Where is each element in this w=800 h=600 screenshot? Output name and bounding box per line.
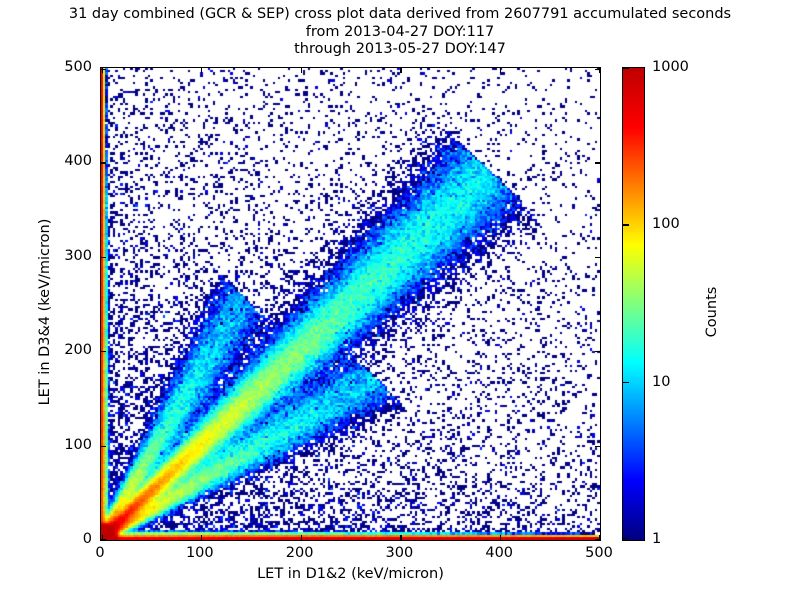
figure-root: 31 day combined (GCR & SEP) cross plot d… bbox=[0, 0, 800, 600]
x-tick bbox=[400, 535, 401, 540]
x-tick-label: 200 bbox=[286, 545, 314, 561]
title-line-2: from 2013-04-27 DOY:117 bbox=[0, 24, 800, 42]
colorbar-title: Counts bbox=[704, 212, 720, 412]
x-tick bbox=[301, 535, 302, 540]
title-line-3: through 2013-05-27 DOY:147 bbox=[0, 41, 800, 59]
y-tick-right bbox=[595, 257, 600, 258]
x-tick-top bbox=[500, 68, 501, 73]
colorbar-tick bbox=[623, 382, 629, 383]
x-tick-top bbox=[201, 68, 202, 73]
colorbar bbox=[622, 67, 645, 541]
y-tick-right bbox=[595, 162, 600, 163]
plot-axes bbox=[100, 67, 601, 541]
y-tick-right bbox=[595, 539, 600, 540]
x-tick-label: 300 bbox=[386, 545, 414, 561]
y-tick bbox=[101, 539, 106, 540]
y-tick-right bbox=[595, 69, 600, 70]
y-tick-label: 500 bbox=[40, 59, 92, 75]
colorbar-tick-label: 1000 bbox=[652, 59, 689, 75]
colorbar-tick-label: 100 bbox=[652, 216, 680, 232]
x-tick-label: 100 bbox=[186, 545, 214, 561]
x-tick bbox=[500, 535, 501, 540]
colorbar-tick bbox=[623, 224, 629, 225]
y-tick bbox=[101, 162, 106, 163]
y-axis-title: LET in D3&4 (keV/micron) bbox=[37, 162, 53, 462]
figure-title: 31 day combined (GCR & SEP) cross plot d… bbox=[0, 6, 800, 59]
y-tick bbox=[101, 257, 106, 258]
colorbar-tick-label: 1 bbox=[652, 531, 661, 547]
colorbar-gradient bbox=[623, 68, 644, 540]
y-tick bbox=[101, 351, 106, 352]
y-tick-label: 0 bbox=[40, 531, 92, 547]
x-axis-title: LET in D1&2 (keV/micron) bbox=[100, 566, 601, 582]
x-tick-label: 0 bbox=[95, 545, 104, 561]
x-tick-label: 400 bbox=[485, 545, 513, 561]
y-tick-right bbox=[595, 446, 600, 447]
histogram-canvas bbox=[101, 68, 600, 540]
x-tick bbox=[201, 535, 202, 540]
colorbar-tick bbox=[623, 538, 629, 539]
colorbar-tick-label: 10 bbox=[652, 374, 670, 390]
y-tick bbox=[101, 69, 106, 70]
y-tick bbox=[101, 446, 106, 447]
y-tick-right bbox=[595, 351, 600, 352]
x-tick-label: 500 bbox=[585, 545, 613, 561]
colorbar-tick bbox=[623, 68, 629, 69]
x-tick-top bbox=[400, 68, 401, 73]
x-tick-top bbox=[301, 68, 302, 73]
title-line-1: 31 day combined (GCR & SEP) cross plot d… bbox=[0, 6, 800, 24]
